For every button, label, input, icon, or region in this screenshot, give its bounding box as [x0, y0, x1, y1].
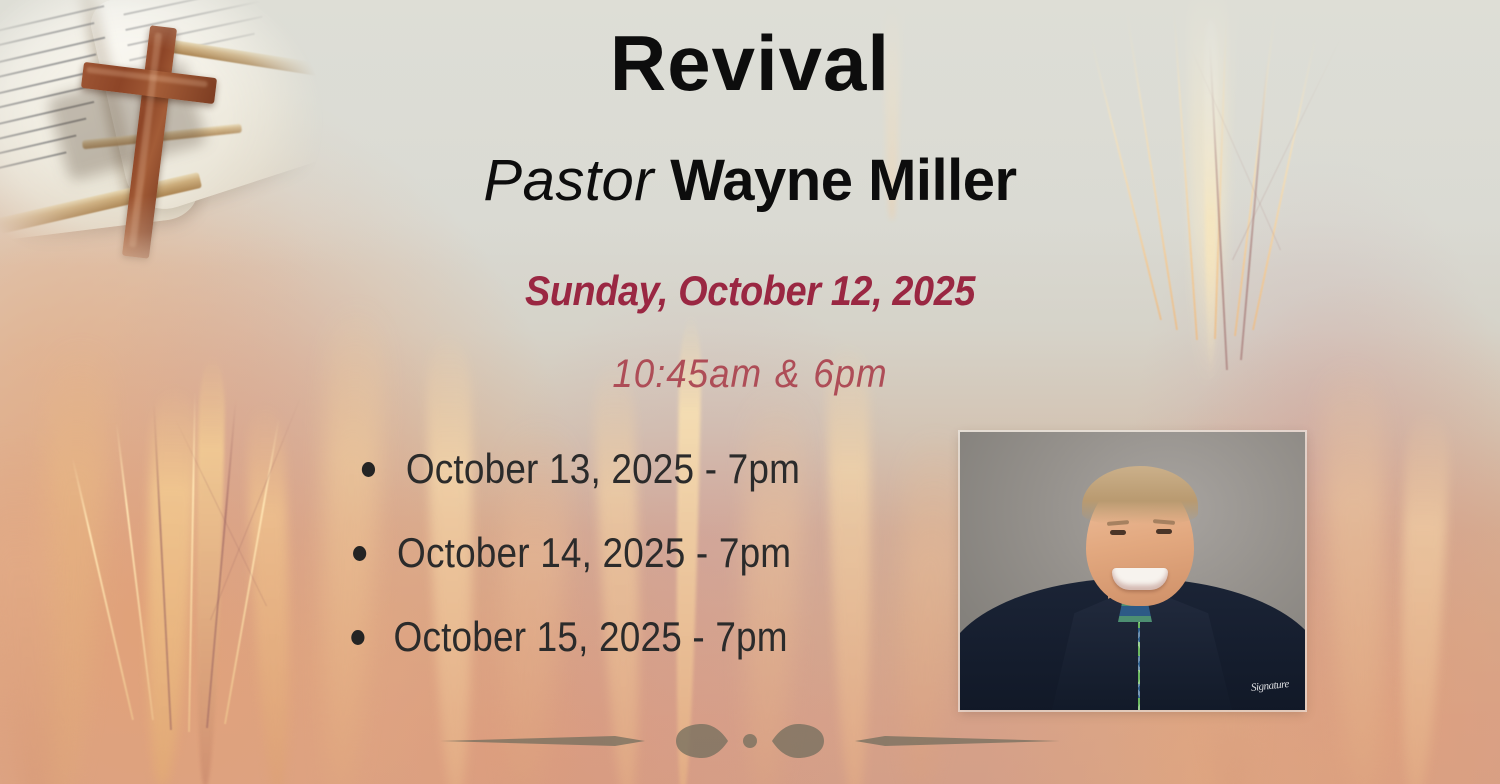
event-date: Sunday, October 12, 2025: [75, 268, 1425, 314]
speaker-name: Wayne Miller: [670, 148, 1016, 213]
bullet-icon: [353, 546, 366, 561]
event-time-first: 10:45am: [612, 352, 762, 396]
list-item: October 13, 2025 - 7pm: [346, 448, 839, 490]
bullet-icon: [362, 462, 375, 477]
portrait-eye: [1156, 529, 1172, 534]
schedule-list: October 13, 2025 - 7pm October 14, 2025 …: [346, 448, 906, 700]
event-time-separator: &: [762, 352, 813, 396]
bullet-icon: [351, 630, 364, 645]
schedule-text: October 13, 2025 - 7pm: [406, 445, 800, 492]
schedule-text: October 15, 2025 - 7pm: [394, 613, 788, 660]
event-times: 10:45am&6pm: [60, 352, 1440, 396]
list-item: October 15, 2025 - 7pm: [346, 616, 839, 658]
speaker-portrait-photo: Signature: [960, 432, 1305, 710]
portrait-smile: [1112, 568, 1168, 590]
revival-flyer: Revival Pastor Wayne Miller Sunday, Octo…: [0, 0, 1500, 784]
schedule-text: October 14, 2025 - 7pm: [397, 529, 791, 576]
event-time-second: 6pm: [813, 352, 887, 396]
page-title: Revival: [0, 24, 1500, 102]
list-item: October 14, 2025 - 7pm: [346, 532, 839, 574]
decorative-divider-icon: [440, 724, 1060, 758]
portrait-eye: [1110, 530, 1126, 535]
speaker-role: Pastor: [483, 148, 654, 213]
speaker-subtitle: Pastor Wayne Miller: [0, 152, 1500, 210]
